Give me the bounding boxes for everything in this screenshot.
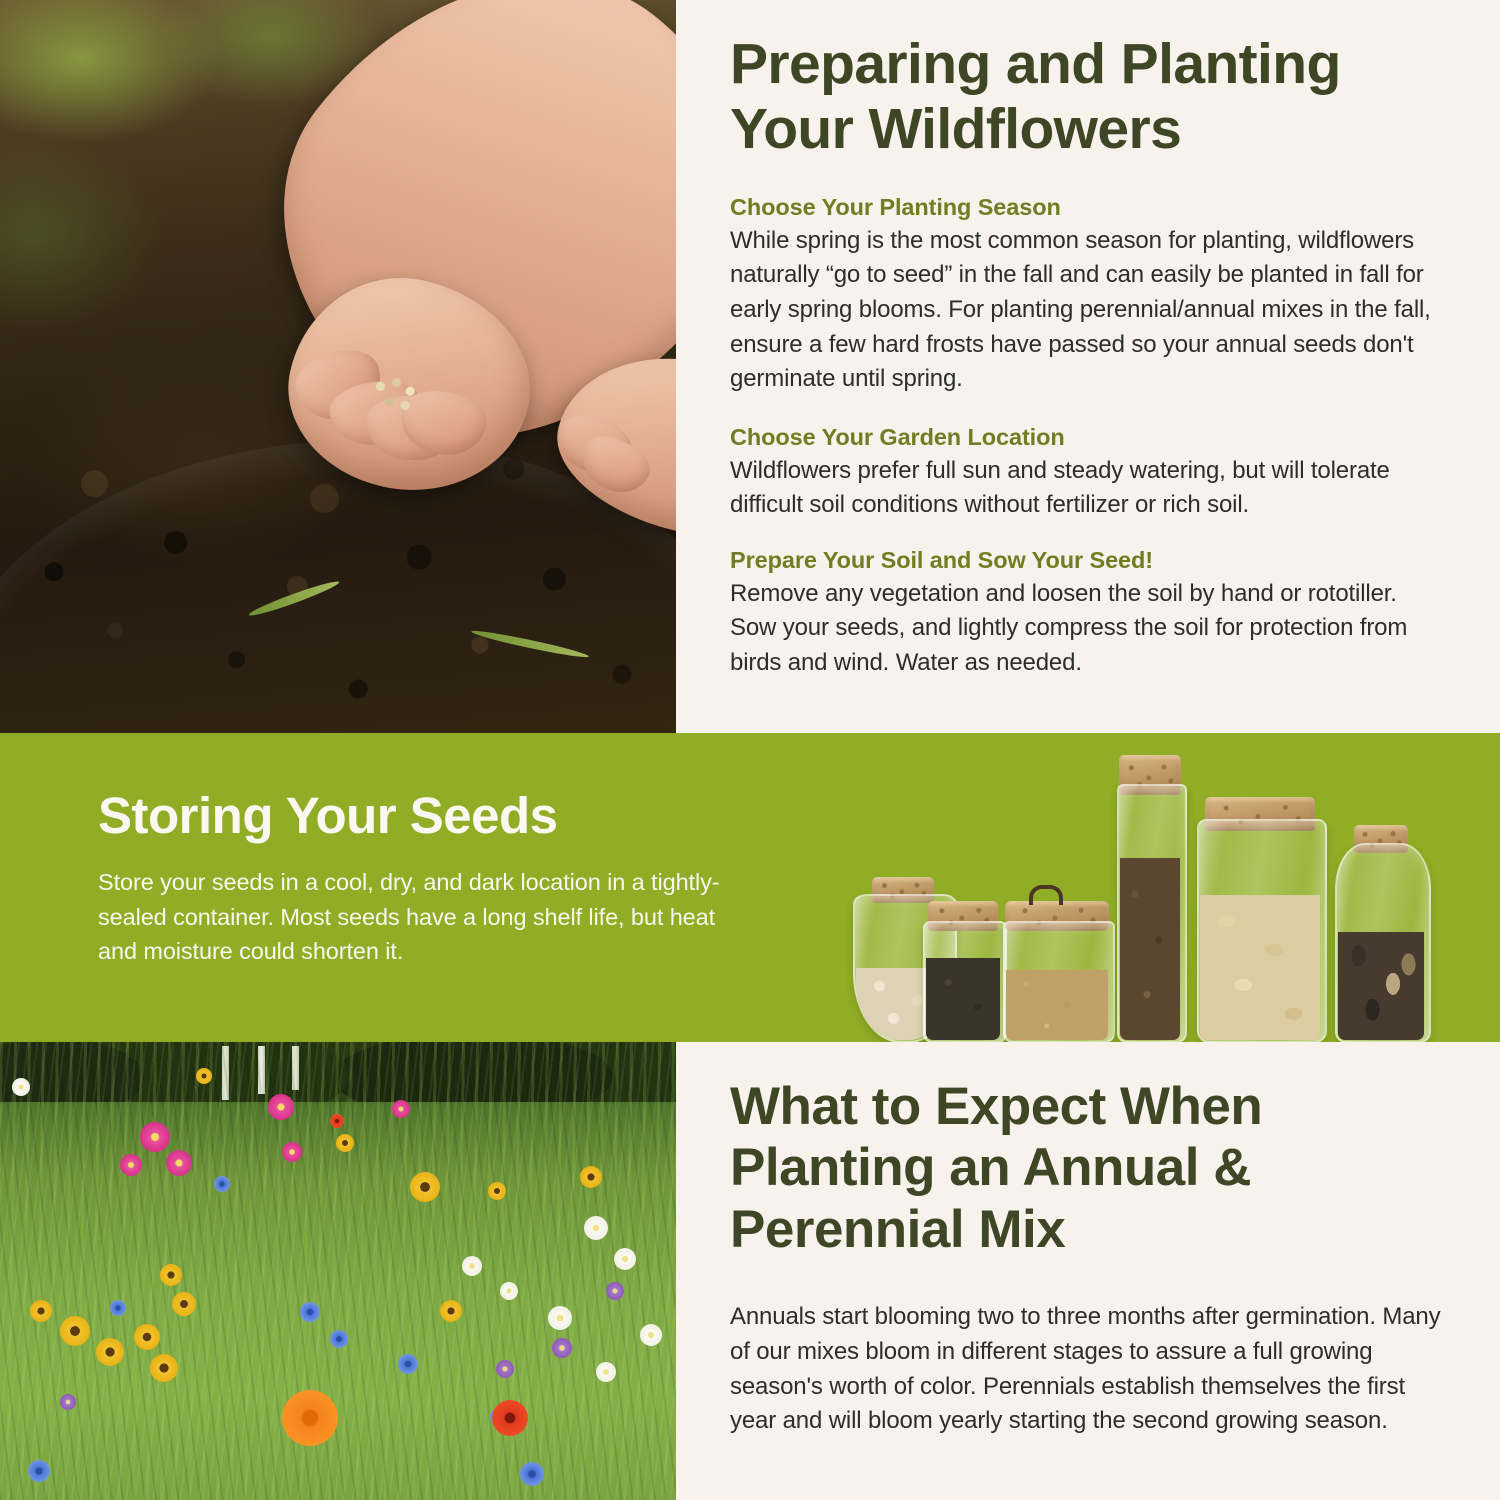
flower-yellow-1 bbox=[60, 1316, 90, 1346]
flower-pink-4 bbox=[268, 1094, 294, 1120]
flower-white-8 bbox=[596, 1362, 616, 1382]
flower-blue-4 bbox=[110, 1300, 126, 1316]
flower-white-4 bbox=[640, 1324, 662, 1346]
flower-yellow-7 bbox=[160, 1264, 182, 1286]
flower-white-2 bbox=[614, 1248, 636, 1270]
flower-red-poppy bbox=[492, 1400, 528, 1436]
jar-dark-brown-seeds bbox=[1117, 761, 1183, 1042]
subheading-prepare-soil: Prepare Your Soil and Sow Your Seed! bbox=[730, 547, 1442, 574]
seed-fill-black-seeds bbox=[926, 958, 1000, 1040]
flower-blue-1 bbox=[300, 1302, 320, 1322]
flower-white-6 bbox=[500, 1282, 518, 1300]
jar-tan-grain bbox=[1003, 893, 1111, 1042]
paragraph-storing-your-seeds: Store your seeds in a cool, dry, and dar… bbox=[98, 865, 738, 969]
seed-fill-tan-grain bbox=[1006, 970, 1108, 1040]
flower-white-3 bbox=[548, 1306, 572, 1330]
seed-fill-sunflower bbox=[1338, 932, 1424, 1040]
flower-pink-3 bbox=[120, 1154, 142, 1176]
text-block-planting-season: Choose Your Planting Season While spring… bbox=[730, 194, 1442, 397]
heading-what-to-expect: What to Expect When Planting an Annual &… bbox=[730, 1042, 1442, 1260]
seed-fill-dark-brown bbox=[1120, 858, 1180, 1040]
flower-white-1 bbox=[584, 1216, 608, 1240]
jar-sunflower-seeds bbox=[1335, 821, 1427, 1042]
subheading-garden-location: Choose Your Garden Location bbox=[730, 424, 1442, 451]
seed-fill-pumpkin bbox=[1200, 895, 1320, 1040]
paragraph-garden-location: Wildflowers prefer full sun and steady w… bbox=[730, 454, 1442, 523]
flower-yellow-13 bbox=[196, 1068, 212, 1084]
page-title: Preparing and Planting Your Wildflowers bbox=[730, 0, 1442, 162]
section-what-to-expect: What to Expect When Planting an Annual &… bbox=[0, 1042, 1500, 1500]
flower-blue-8 bbox=[214, 1176, 230, 1192]
flower-yellow-8 bbox=[410, 1172, 440, 1202]
flower-red-small bbox=[330, 1114, 344, 1128]
paragraph-planting-season: While spring is the most common season f… bbox=[730, 224, 1442, 397]
text-block-garden-location: Choose Your Garden Location Wildflowers … bbox=[730, 424, 1442, 523]
flower-yellow-10 bbox=[580, 1166, 602, 1188]
flower-blue-6 bbox=[520, 1462, 544, 1486]
flower-yellow-9 bbox=[440, 1300, 462, 1322]
flower-violet-3 bbox=[60, 1394, 76, 1410]
subheading-planting-season: Choose Your Planting Season bbox=[730, 194, 1442, 221]
section-preparing-and-planting: Preparing and Planting Your Wildflowers … bbox=[0, 0, 1500, 733]
flower-yellow-6 bbox=[172, 1292, 196, 1316]
photo-wildflower-meadow bbox=[0, 1042, 676, 1500]
lid-knob bbox=[1029, 885, 1063, 905]
flower-orange-poppy bbox=[282, 1390, 338, 1446]
text-block-prepare-soil: Prepare Your Soil and Sow Your Seed! Rem… bbox=[730, 547, 1442, 681]
flower-pink-6 bbox=[392, 1100, 410, 1118]
jar-black-seeds bbox=[923, 898, 1003, 1042]
flower-violet-4 bbox=[496, 1360, 514, 1378]
infographic-page: Preparing and Planting Your Wildflowers … bbox=[0, 0, 1500, 1500]
flower-yellow-5 bbox=[30, 1300, 52, 1322]
paragraph-what-to-expect: Annuals start blooming two to three mont… bbox=[730, 1300, 1442, 1438]
flower-blue-2 bbox=[330, 1330, 348, 1348]
photo-seed-jars bbox=[845, 753, 1475, 1042]
meadow-flowers bbox=[0, 1042, 676, 1500]
text-column-green-band: Storing Your Seeds Store your seeds in a… bbox=[98, 789, 748, 969]
flower-yellow-3 bbox=[134, 1324, 160, 1350]
flower-blue-5 bbox=[28, 1460, 50, 1482]
paragraph-prepare-soil: Remove any vegetation and loosen the soi… bbox=[730, 577, 1442, 681]
flower-violet-2 bbox=[606, 1282, 624, 1300]
text-column-bottom: What to Expect When Planting an Annual &… bbox=[730, 1042, 1442, 1500]
text-column-top: Preparing and Planting Your Wildflowers … bbox=[730, 0, 1442, 733]
flower-yellow-12 bbox=[336, 1134, 354, 1152]
seeds-in-hand bbox=[368, 372, 430, 420]
flower-white-7 bbox=[12, 1078, 30, 1096]
flower-yellow-2 bbox=[96, 1338, 124, 1366]
flower-violet-1 bbox=[552, 1338, 572, 1358]
photo-hands-sowing-seeds bbox=[0, 0, 676, 733]
section-storing-your-seeds: Storing Your Seeds Store your seeds in a… bbox=[0, 733, 1500, 1042]
flower-yellow-4 bbox=[150, 1354, 178, 1382]
flower-blue-3 bbox=[398, 1354, 418, 1374]
jar-pumpkin-seeds bbox=[1197, 793, 1323, 1042]
flower-white-5 bbox=[462, 1256, 482, 1276]
flower-pink-5 bbox=[282, 1142, 302, 1162]
heading-storing-your-seeds: Storing Your Seeds bbox=[98, 789, 748, 843]
flower-yellow-11 bbox=[488, 1182, 506, 1200]
flower-pink-2 bbox=[166, 1150, 192, 1176]
flower-pink-1 bbox=[140, 1122, 170, 1152]
